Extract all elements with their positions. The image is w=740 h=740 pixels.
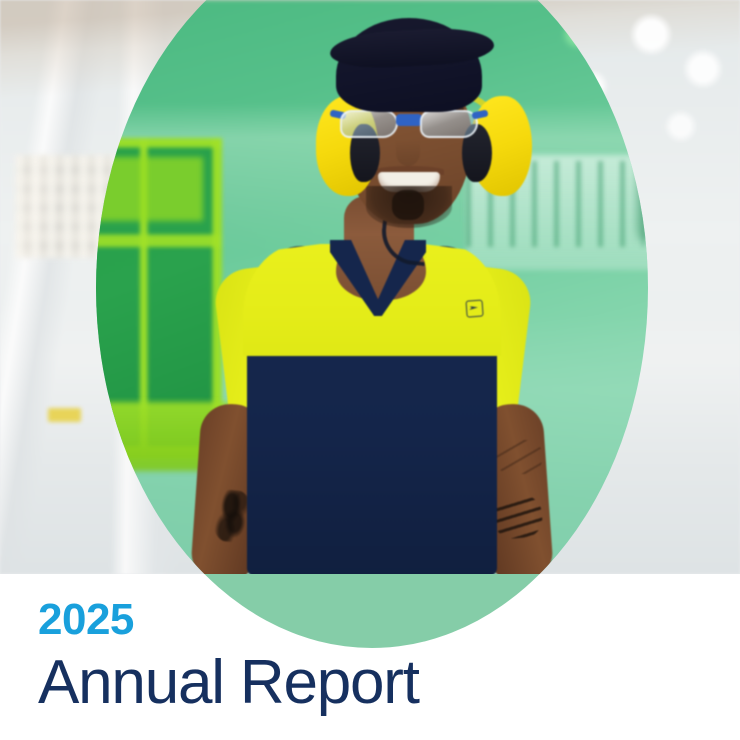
annual-report-cover: 2025 Annual Report <box>0 0 740 740</box>
glasses-lens-right <box>420 110 478 138</box>
worker-figure <box>96 0 648 574</box>
glasses-lens-left <box>340 110 398 138</box>
report-year: 2025 <box>38 598 678 642</box>
logo-wordmark <box>486 304 488 310</box>
tattoo-right-forearm-bands <box>492 494 543 540</box>
shoulder-logo-badge <box>465 294 514 319</box>
green-circle-spotlight <box>96 0 648 574</box>
backdrop-safety-marker <box>48 408 81 423</box>
page-title: Annual Report <box>38 650 678 715</box>
goatee <box>392 190 424 220</box>
cover-title-block: 2025 Annual Report <box>38 598 678 715</box>
glasses-bridge <box>396 114 422 126</box>
safety-glasses <box>340 108 478 142</box>
cover-photo <box>0 0 740 574</box>
skin-marks-right-forearm <box>496 440 542 474</box>
nose <box>396 140 420 166</box>
logo-mark-icon <box>465 299 483 317</box>
